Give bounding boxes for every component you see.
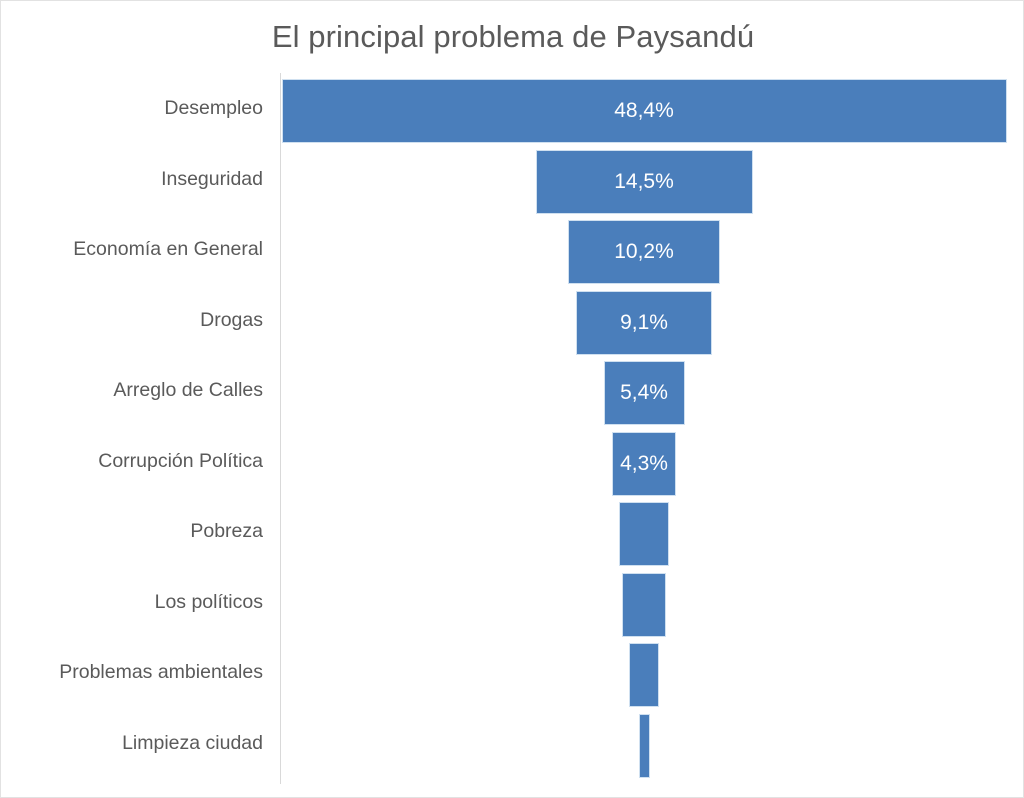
- chart-container: El principal problema de Paysandú Desemp…: [0, 0, 1024, 798]
- bar-row: Limpieza ciudad: [1, 708, 1024, 779]
- plot-area: Desempleo48,4%Inseguridad14,5%Economía e…: [1, 73, 1024, 785]
- category-label: Problemas ambientales: [59, 637, 263, 708]
- bar[interactable]: [536, 150, 753, 214]
- bar-row: Desempleo48,4%: [1, 73, 1024, 144]
- bar-row: Inseguridad14,5%: [1, 144, 1024, 215]
- category-label: Economía en General: [73, 214, 263, 285]
- bar[interactable]: [604, 361, 685, 425]
- category-label: Inseguridad: [161, 144, 263, 215]
- bar-row: Arreglo de Calles5,4%: [1, 355, 1024, 426]
- bar[interactable]: [629, 643, 659, 707]
- chart-title: El principal problema de Paysandú: [1, 19, 1024, 55]
- category-label: Corrupción Política: [98, 426, 263, 497]
- category-label: Drogas: [200, 285, 263, 356]
- category-label: Desempleo: [164, 73, 263, 144]
- bar[interactable]: [282, 79, 1007, 143]
- bar-row: Economía en General10,2%: [1, 214, 1024, 285]
- category-label: Arreglo de Calles: [113, 355, 263, 426]
- bar-row: Corrupción Política4,3%: [1, 426, 1024, 497]
- bar-row: Drogas9,1%: [1, 285, 1024, 356]
- bar-row: Pobreza: [1, 496, 1024, 567]
- bar[interactable]: [612, 432, 676, 496]
- bar[interactable]: [639, 714, 650, 778]
- category-label: Pobreza: [190, 496, 263, 567]
- bar[interactable]: [568, 220, 720, 284]
- bar-row: Los políticos: [1, 567, 1024, 638]
- category-label: Los políticos: [155, 567, 263, 638]
- bar[interactable]: [576, 291, 712, 355]
- bar-row: Problemas ambientales: [1, 637, 1024, 708]
- bar[interactable]: [622, 573, 666, 637]
- category-label: Limpieza ciudad: [122, 708, 263, 779]
- bar[interactable]: [619, 502, 669, 566]
